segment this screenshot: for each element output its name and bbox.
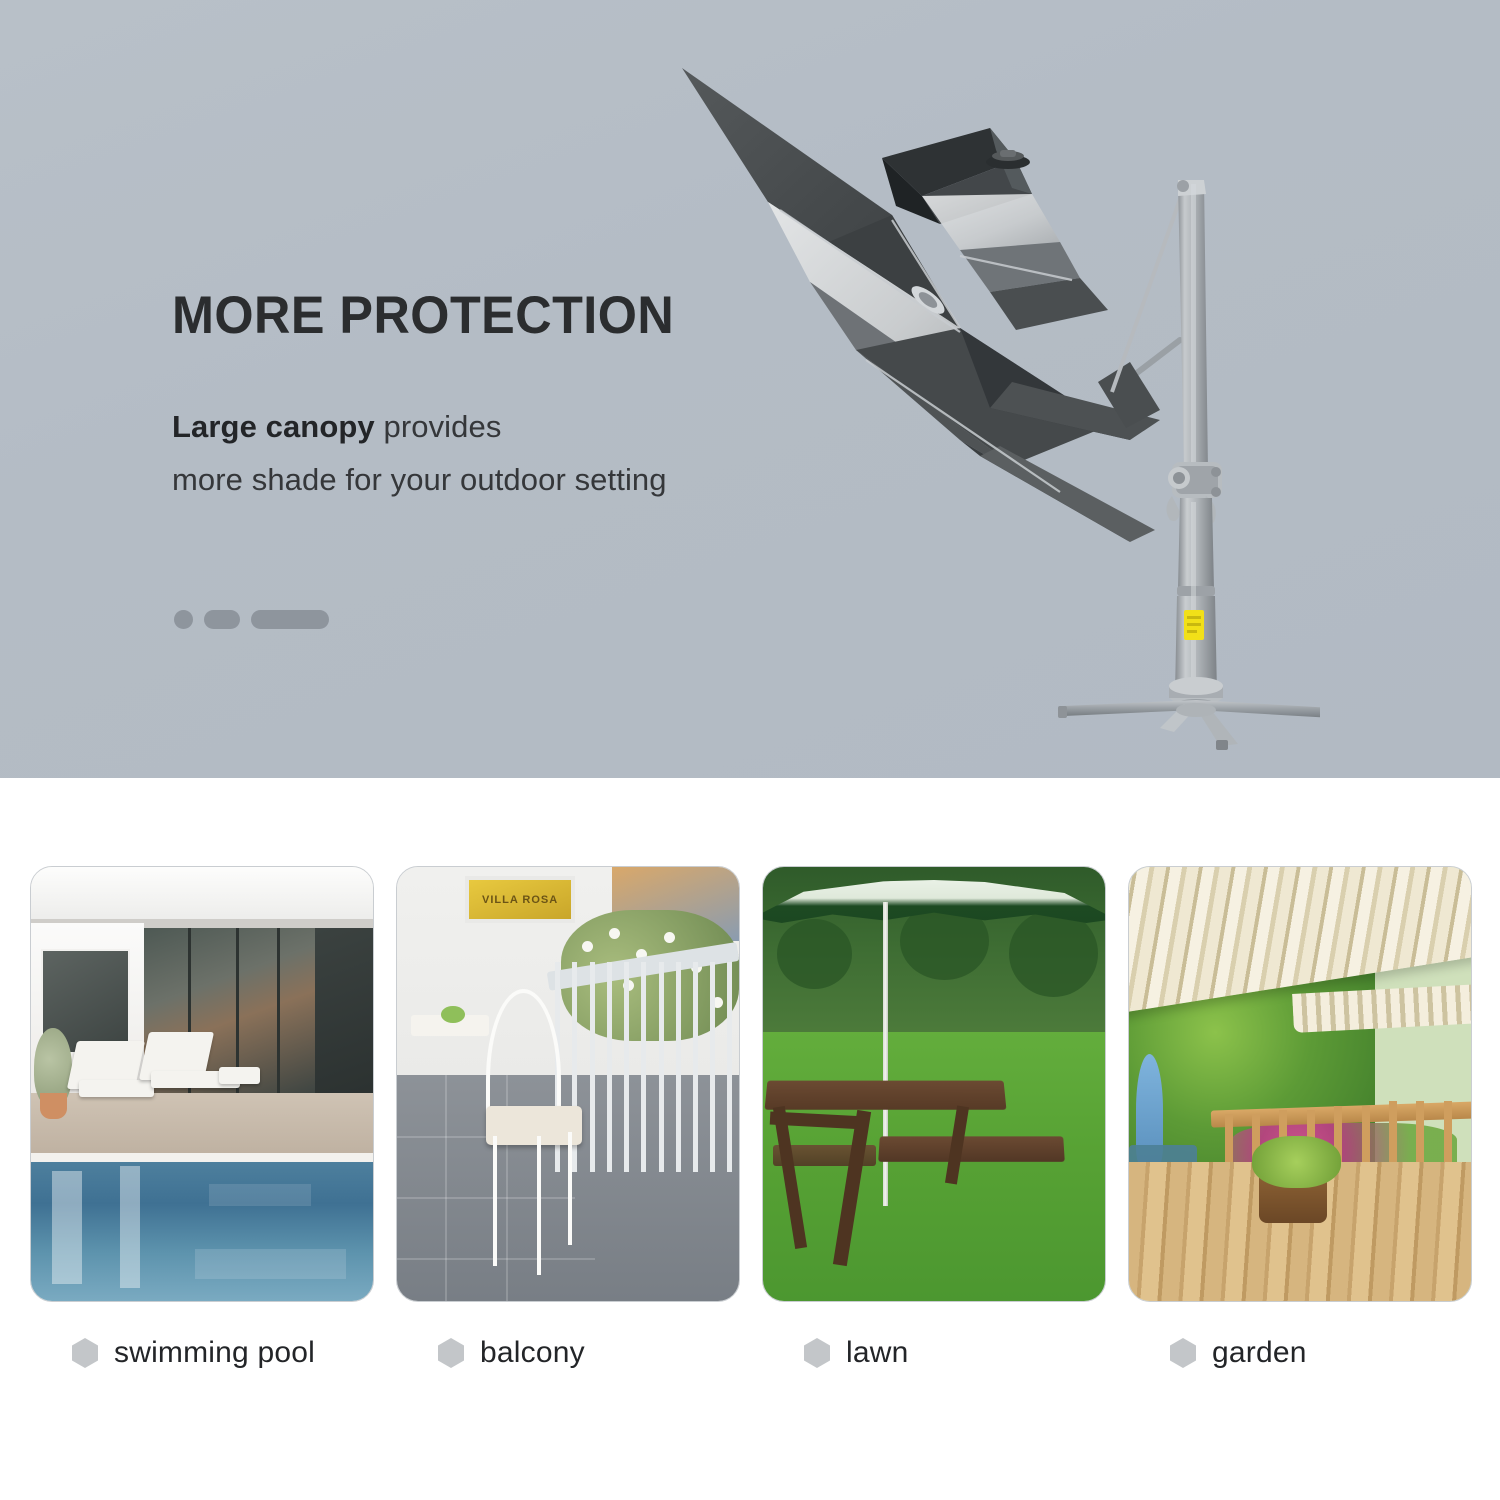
product-feature-banner: MORE PROTECTION Large canopy provides mo… xyxy=(0,0,1500,1500)
warning-label-sticker xyxy=(1184,610,1204,640)
upper-mast xyxy=(1177,180,1208,472)
thumbnail-garden[interactable] xyxy=(1128,866,1472,1302)
thumbnail-row: swimming pool VILLA ROSA xyxy=(30,866,1470,1370)
hexagon-bullet-icon xyxy=(1170,1338,1196,1368)
caption-balcony: balcony xyxy=(396,1336,740,1370)
gallery-item-garden[interactable]: garden xyxy=(1128,866,1472,1370)
gallery-item-swimming-pool[interactable]: swimming pool xyxy=(30,866,374,1370)
hexagon-bullet-icon xyxy=(438,1338,464,1368)
caption-garden: garden xyxy=(1128,1336,1472,1370)
hexagon-bullet-icon xyxy=(804,1338,830,1368)
product-image-umbrella xyxy=(660,10,1320,750)
caption-swimming-pool: swimming pool xyxy=(30,1336,374,1370)
pip-long-bar xyxy=(251,610,329,629)
pip-short-bar xyxy=(204,610,240,629)
pool-scene xyxy=(31,867,373,1301)
thumbnail-balcony[interactable]: VILLA ROSA xyxy=(396,866,740,1302)
garden-scene xyxy=(1129,867,1471,1301)
lower-pole xyxy=(1175,498,1217,694)
lawn-scene xyxy=(763,867,1105,1301)
caption-lawn: lawn xyxy=(762,1336,1106,1370)
gallery-item-lawn[interactable]: lawn xyxy=(762,866,1106,1370)
use-case-gallery: swimming pool VILLA ROSA xyxy=(0,778,1500,1500)
caption-label: garden xyxy=(1212,1336,1307,1370)
caption-label: lawn xyxy=(846,1336,909,1370)
cross-base xyxy=(1058,700,1320,750)
balcony-scene: VILLA ROSA xyxy=(397,867,739,1301)
hero-panel: MORE PROTECTION Large canopy provides mo… xyxy=(0,0,1500,778)
hexagon-bullet-icon xyxy=(72,1338,98,1368)
caption-label: balcony xyxy=(480,1336,585,1370)
villa-rosa-sign-text: VILLA ROSA xyxy=(469,880,570,920)
thumbnail-swimming-pool[interactable] xyxy=(30,866,374,1302)
caption-label: swimming pool xyxy=(114,1336,315,1370)
gallery-item-balcony[interactable]: VILLA ROSA xyxy=(396,866,740,1370)
hero-subtitle-rest: provides xyxy=(375,409,502,444)
hero-subtitle-strong: Large canopy xyxy=(172,409,375,444)
pip-dot xyxy=(174,610,193,629)
thumbnail-lawn[interactable] xyxy=(762,866,1106,1302)
decorative-pips xyxy=(174,610,329,629)
